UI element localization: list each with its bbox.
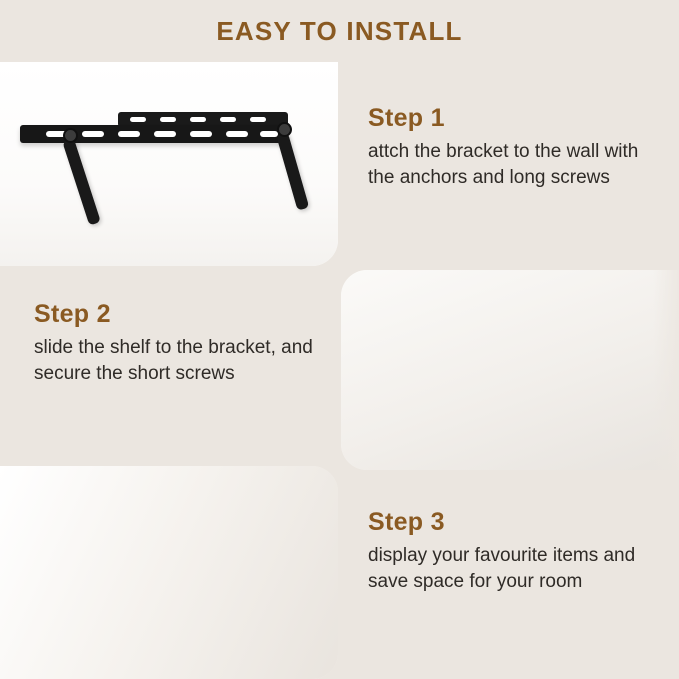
step-1-text: Step 1 attch the bracket to the wall wit… xyxy=(368,104,664,191)
step-3-body: display your favourite items and save sp… xyxy=(368,543,668,595)
step-1-heading: Step 1 xyxy=(368,104,664,133)
wall-background-2 xyxy=(341,270,679,470)
step-3-text: Step 3 display your favourite items and … xyxy=(368,508,668,595)
infographic-page: EASY TO INSTALL Step 1 xyxy=(0,0,679,679)
bracket-main-rail xyxy=(20,125,288,143)
step-1-body: attch the bracket to the wall with the a… xyxy=(368,139,664,191)
step-1-image xyxy=(0,62,338,266)
screw-head-left xyxy=(63,128,78,143)
page-title: EASY TO INSTALL xyxy=(0,16,679,47)
step-2-text: Step 2 slide the shelf to the bracket, a… xyxy=(34,300,334,387)
step-3-image: A SMILE IN THE MIND A SMILE IN THE MIND … xyxy=(0,466,338,679)
photo-edge-fade xyxy=(653,270,679,470)
step-2-heading: Step 2 xyxy=(34,300,334,329)
step-2-image xyxy=(341,270,679,470)
step-2-body: slide the shelf to the bracket, and secu… xyxy=(34,335,334,387)
wall-background-3 xyxy=(0,466,338,679)
screw-head-right xyxy=(277,122,292,137)
step-3-heading: Step 3 xyxy=(368,508,668,537)
